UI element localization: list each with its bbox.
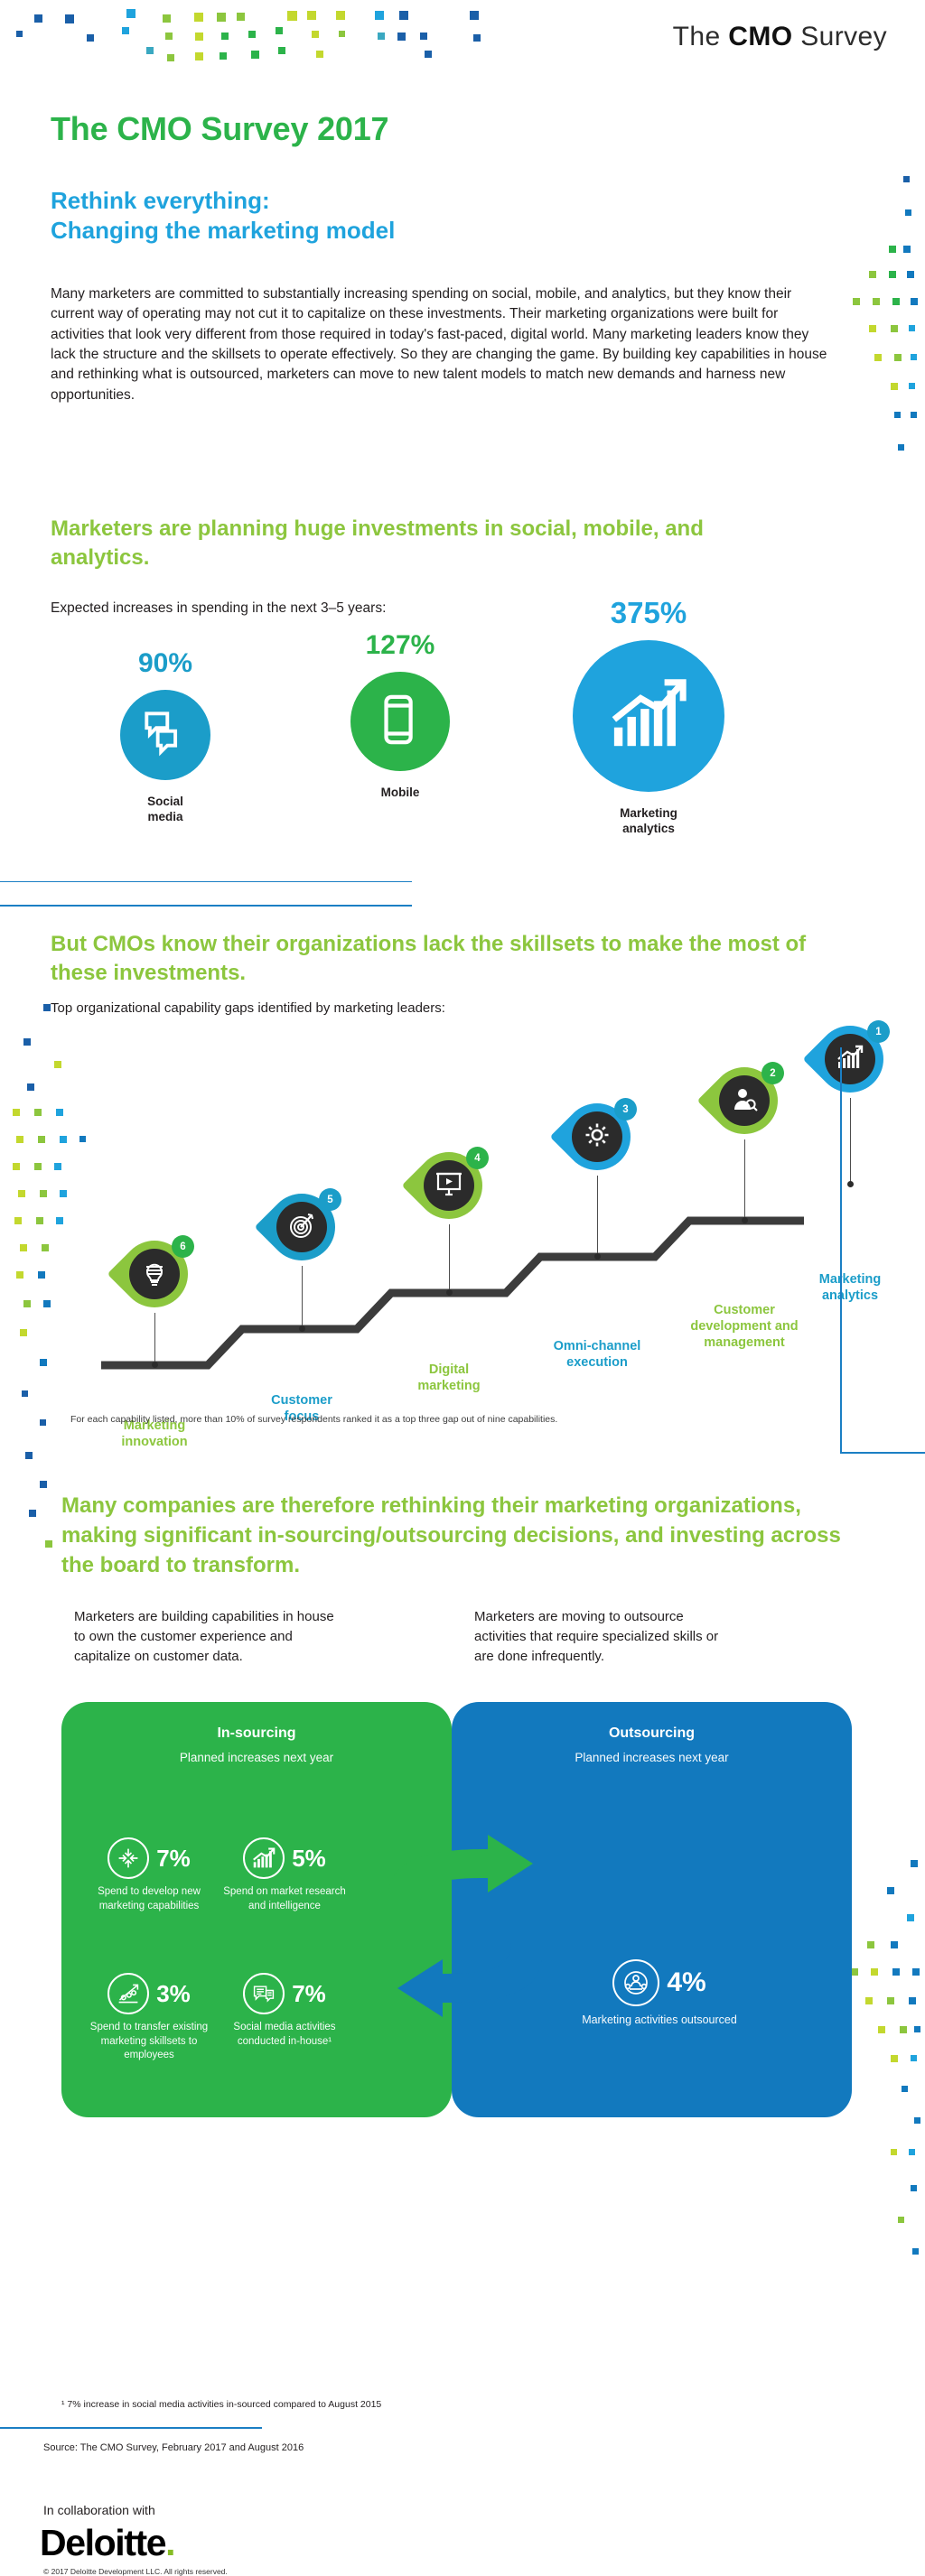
pin-icon-circle: [572, 1111, 622, 1162]
pin-rank-badge: 1: [867, 1020, 890, 1043]
decorative-dot: [397, 33, 406, 41]
decorative-dot: [871, 1968, 878, 1976]
decorative-dot: [339, 31, 345, 37]
bar-chart-arrow-icon: [243, 1837, 285, 1879]
decorative-dot: [87, 34, 94, 42]
capability-pin[interactable]: 2: [711, 1067, 778, 1149]
metric-row: 7%: [217, 1973, 352, 2014]
decorative-dot: [873, 298, 880, 305]
decorative-dot: [163, 14, 171, 23]
logo-suffix: Survey: [792, 22, 887, 51]
decorative-dot: [194, 13, 203, 22]
insourcing-subtitle: Planned increases next year: [61, 1742, 452, 1764]
decorative-dot: [907, 271, 914, 278]
capability-pin[interactable]: 3: [564, 1103, 631, 1185]
investment-stat-label: Marketinganalytics: [558, 806, 739, 837]
metric-percent: 5%: [292, 1846, 326, 1870]
divider-line-4: [840, 1452, 925, 1454]
decorative-dot: [853, 298, 860, 305]
outsourcing-intro: Marketers are moving to outsource activi…: [474, 1607, 736, 1666]
insourcing-intro: Marketers are building capabilities in h…: [74, 1607, 336, 1666]
decorative-dot: [45, 1540, 52, 1548]
decorative-dot: [336, 11, 345, 20]
pin-icon-circle: [424, 1160, 474, 1211]
metric-percent: 7%: [156, 1846, 191, 1870]
decorative-dot: [911, 354, 917, 360]
decorative-dot: [909, 2149, 915, 2155]
pin-icon-circle: [825, 1034, 875, 1084]
pin-icon-circle: [276, 1202, 327, 1252]
investment-stat-value: 127%: [310, 632, 491, 659]
decorative-dot: [911, 2055, 917, 2061]
decorative-dot: [195, 33, 203, 41]
capability-gaps-note: For each capability listed, more than 10…: [70, 1414, 557, 1425]
collaboration-label: In collaboration with: [43, 2503, 155, 2517]
investment-stat-icon-circle: [120, 690, 210, 780]
infographic-page: The CMO Survey The CMO Survey 2017 Rethi…: [0, 0, 925, 2573]
lightbulb-icon: [141, 1259, 168, 1290]
person-search-icon: [731, 1085, 758, 1117]
decorative-dot: [237, 13, 245, 21]
pin-leader-dot: [152, 1362, 158, 1368]
decorative-dot: [891, 383, 898, 390]
capability-pin[interactable]: 5: [268, 1194, 335, 1275]
decorative-dot: [425, 51, 432, 58]
decorative-dot: [911, 2185, 917, 2191]
pin-leader-line: [449, 1224, 450, 1293]
metric-row: 5%: [217, 1837, 352, 1879]
capability-pin[interactable]: 1: [817, 1026, 883, 1107]
metric-caption: Social media activities conducted in-hou…: [217, 2021, 352, 2049]
subtitle-rest: everything:: [136, 187, 269, 214]
decorative-dot: [276, 27, 283, 34]
subtitle-line2: Changing the marketing model: [51, 216, 395, 246]
decorative-dot: [894, 354, 902, 361]
decorative-dot: [375, 11, 384, 20]
decorative-dot: [891, 2055, 898, 2062]
investment-stat-label: Socialmedia: [75, 795, 256, 825]
cmo-survey-logo: The CMO Survey: [673, 22, 887, 52]
decorative-dot: [911, 1860, 918, 1867]
capability-pin[interactable]: 6: [121, 1241, 188, 1322]
decorative-dot: [894, 412, 901, 418]
outsourcing-title: Outsourcing: [452, 1702, 852, 1742]
logo-bold: CMO: [728, 22, 792, 51]
investment-stat-value: 90%: [75, 650, 256, 677]
pin-leader-line: [850, 1098, 851, 1185]
investments-heading: Marketers are planning huge investments …: [51, 515, 755, 572]
divider-line-2: [0, 905, 412, 907]
pin-leader-dot: [299, 1325, 305, 1332]
network-people-icon: [612, 1959, 659, 2006]
metric-caption: Spend to develop new marketing capabilit…: [81, 1885, 217, 1913]
copyright-text: © 2017 Deloitte Development LLC. All rig…: [43, 2567, 228, 2576]
decorative-dot: [905, 209, 911, 216]
page-subtitle: Rethink everything: Changing the marketi…: [51, 186, 395, 246]
pin-leader-line: [302, 1266, 303, 1329]
decorative-dot: [914, 2026, 920, 2032]
investment-stat-icon-circle: [573, 640, 724, 792]
decorative-dot: [903, 246, 911, 253]
decorative-dot: [248, 31, 256, 38]
decorative-dot: [65, 14, 74, 23]
decorative-dot: [909, 383, 915, 389]
decorative-dot: [167, 54, 174, 61]
pin-leader-dot: [446, 1289, 453, 1296]
metric-percent: 7%: [292, 1982, 326, 2005]
decorative-dot: [891, 2149, 897, 2155]
decorative-dot: [220, 52, 227, 60]
speech-bubbles-icon: [142, 709, 190, 761]
decorative-dot: [473, 34, 481, 42]
pin-leader-dot: [742, 1217, 748, 1223]
deloitte-green-dot: .: [165, 2522, 174, 2563]
decorative-dot: [34, 14, 42, 23]
gear-icon: [584, 1121, 611, 1153]
decorative-dot: [420, 33, 427, 40]
metric-percent: 4%: [667, 1969, 705, 1996]
outsourcing-subtitle: Planned increases next year: [452, 1742, 852, 1764]
presentation-play-icon: [435, 1170, 462, 1202]
decorative-dot: [195, 52, 203, 60]
decorative-dot: [851, 1968, 858, 1976]
divider-line-1: [0, 881, 412, 882]
metric-percent: 3%: [156, 1982, 191, 2005]
pin-rank-badge: 6: [172, 1235, 194, 1258]
decorative-dot: [911, 412, 917, 418]
decorative-dot: [278, 47, 285, 54]
insourcing-metric: 7%Social media activities conducted in-h…: [217, 1973, 352, 2049]
rethink-heading: Many companies are therefore rethinking …: [61, 1492, 856, 1581]
pin-rank-badge: 3: [614, 1098, 637, 1121]
decorative-dot: [892, 298, 900, 305]
decorative-dot: [898, 444, 904, 451]
bar-chart-arrow-icon: [609, 674, 688, 758]
pin-leader-dot: [594, 1253, 601, 1260]
decorative-dot: [878, 2026, 885, 2033]
pin-leader-line: [744, 1139, 745, 1221]
chat-list-icon: [243, 1973, 285, 2014]
decorative-dot: [251, 51, 259, 59]
capability-pin-label: Customerdevelopment andmanagement: [668, 1302, 821, 1351]
decorative-dot: [316, 51, 323, 58]
metric-caption: Spend to transfer existing marketing ski…: [81, 2021, 217, 2063]
decorative-dot: [25, 1452, 33, 1459]
insourcing-metric: 5%Spend on market research and intellige…: [217, 1837, 352, 1913]
investment-stat-icon-circle: [350, 672, 450, 771]
logo-prefix: The: [673, 22, 729, 51]
decorative-dot: [887, 1887, 894, 1894]
metric-row: 3%: [81, 1973, 217, 2014]
mobile-phone-icon: [374, 693, 426, 750]
pin-leader-dot: [847, 1181, 854, 1187]
decorative-dot: [378, 33, 385, 40]
decorative-dot: [889, 246, 896, 253]
deloitte-wordmark: Deloitte: [40, 2522, 165, 2563]
decorative-dot: [399, 11, 408, 20]
decorative-dot: [912, 2248, 919, 2255]
decorative-dot: [902, 2086, 908, 2092]
capability-pin-label: Omni-channelexecution: [520, 1338, 674, 1371]
decorative-dot: [892, 1968, 900, 1976]
decorative-dot: [903, 176, 910, 182]
people-growth-icon: [107, 1973, 149, 2014]
pin-rank-badge: 4: [466, 1147, 489, 1169]
decorative-dot: [889, 271, 896, 278]
deloitte-logo: Deloitte.: [40, 2522, 174, 2564]
subtitle-bold: Rethink: [51, 187, 136, 214]
decorative-dot: [470, 11, 479, 20]
decorative-dot: [40, 1419, 46, 1426]
divider-line-3: [840, 1047, 842, 1454]
decorative-dot: [891, 325, 898, 332]
divider-line-5: [0, 2427, 262, 2429]
decorative-dot: [122, 27, 129, 34]
target-icon: [288, 1212, 315, 1243]
decorative-dot: [900, 2026, 907, 2033]
metric-row: 4%: [578, 1959, 741, 2006]
source-note: Source: The CMO Survey, February 2017 an…: [43, 2442, 304, 2453]
investments-subhead: Expected increases in spending in the ne…: [51, 600, 386, 617]
decorative-dot: [165, 33, 173, 40]
insourcing-title: In-sourcing: [61, 1702, 452, 1742]
decorative-dot: [887, 1997, 894, 2004]
decorative-dot: [874, 354, 882, 361]
decorative-dot: [912, 1968, 920, 1976]
decorative-dot: [221, 33, 229, 40]
decorative-dot: [869, 325, 876, 332]
intro-paragraph: Many marketers are committed to substant…: [51, 284, 827, 405]
decorative-dot: [914, 2117, 920, 2124]
page-title: The CMO Survey 2017: [51, 110, 388, 148]
decorative-dot: [907, 1914, 914, 1921]
investment-stat-label: Mobile: [310, 786, 491, 801]
decorative-dot: [312, 31, 319, 38]
metric-caption: Spend on market research and intelligenc…: [217, 1885, 352, 1913]
investment-stat-value: 375%: [558, 598, 739, 628]
metric-row: 7%: [81, 1837, 217, 1879]
capability-gaps-heading: But CMOs know their organizations lack t…: [51, 930, 846, 988]
investment-stat: 127%Mobile: [310, 632, 491, 801]
decorative-dot: [126, 9, 135, 18]
decorative-dot: [287, 11, 297, 21]
decorative-dot: [891, 1941, 898, 1948]
decorative-dot: [146, 47, 154, 54]
expand-arrows-icon: [107, 1837, 149, 1879]
decorative-dot: [909, 1997, 916, 2004]
pin-icon-circle: [129, 1249, 180, 1299]
pin-icon-circle: [719, 1075, 770, 1126]
decorative-dot: [911, 298, 918, 305]
capability-pin[interactable]: 4: [416, 1152, 482, 1233]
metric-caption: Marketing activities outsourced: [578, 2013, 741, 2028]
decorative-dot: [29, 1510, 36, 1517]
decorative-dot: [217, 13, 226, 22]
pin-leader-line: [597, 1176, 598, 1257]
outsourcing-metric: 4%Marketing activities outsourced: [578, 1959, 741, 2028]
insourcing-metric: 3%Spend to transfer existing marketing s…: [81, 1973, 217, 2063]
decorative-dot: [307, 11, 316, 20]
exchange-arrows-icon: [379, 1833, 551, 2032]
capability-pin-label: Digitalmarketing: [372, 1362, 526, 1394]
decorative-dot: [16, 31, 23, 37]
capability-pin-label: Marketinganalytics: [773, 1271, 925, 1304]
insourcing-footnote: ¹ 7% increase in social media activities…: [61, 2399, 381, 2410]
decorative-dot: [865, 1997, 873, 2004]
investment-stat: 90%Socialmedia: [75, 650, 256, 825]
decorative-dot: [40, 1481, 47, 1488]
decorative-dot: [909, 325, 915, 331]
pin-rank-badge: 5: [319, 1188, 341, 1211]
capability-staircase-chart: 6Marketinginnovation5Customerfocus4Digit…: [0, 984, 925, 1409]
pin-rank-badge: 2: [761, 1062, 784, 1084]
investment-stat: 375%Marketinganalytics: [558, 598, 739, 837]
insourcing-metric: 7%Spend to develop new marketing capabil…: [81, 1837, 217, 1913]
decorative-dot: [869, 271, 876, 278]
decorative-dot: [898, 2217, 904, 2223]
decorative-dot: [867, 1941, 874, 1948]
